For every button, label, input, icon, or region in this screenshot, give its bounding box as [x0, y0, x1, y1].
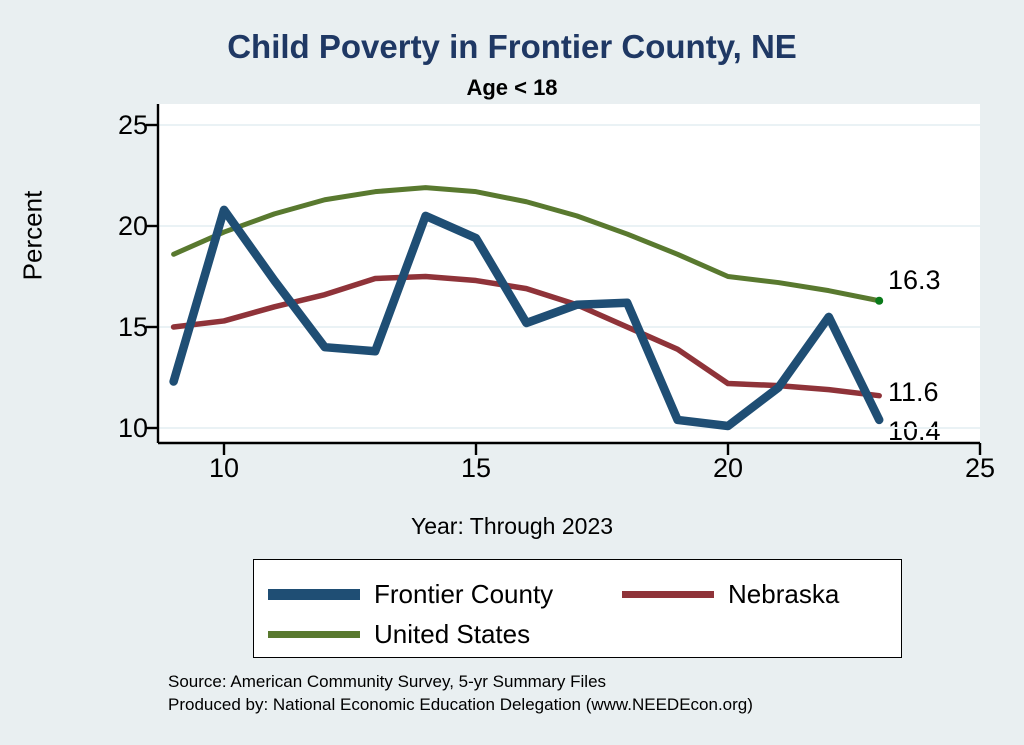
footer-source-line: Source: American Community Survey, 5-yr …	[168, 671, 753, 694]
legend-swatch-united-states	[268, 631, 360, 638]
legend-item-united-states[interactable]: United States	[268, 619, 530, 650]
series-lines	[174, 188, 884, 426]
legend-swatch-frontier-county	[268, 589, 360, 600]
legend-item-nebraska[interactable]: Nebraska	[622, 579, 839, 610]
series-line-nebraska	[174, 277, 880, 396]
legend-swatch-nebraska	[622, 591, 714, 598]
chart-page: Child Poverty in Frontier County, NE Age…	[0, 0, 1024, 745]
legend-label-nebraska: Nebraska	[728, 579, 839, 610]
end-marker-united-states	[875, 297, 883, 305]
footer: Source: American Community Survey, 5-yr …	[168, 671, 753, 716]
chart-legend: Frontier County Nebraska United States	[253, 559, 902, 658]
legend-item-frontier-county[interactable]: Frontier County	[268, 579, 553, 610]
footer-producer-line: Produced by: National Economic Education…	[168, 694, 753, 717]
legend-label-frontier-county: Frontier County	[374, 579, 553, 610]
series-line-frontier-county	[174, 210, 880, 426]
legend-label-united-states: United States	[374, 619, 530, 650]
